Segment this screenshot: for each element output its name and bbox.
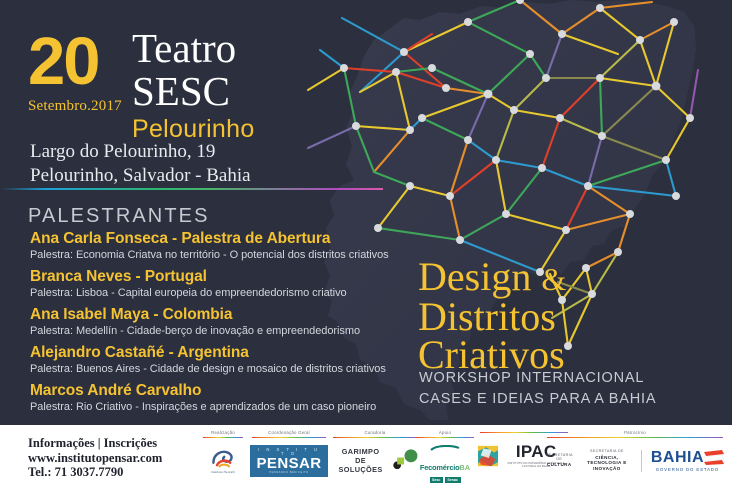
contact-info: Informações | Inscrições www.institutope…	[28, 436, 162, 480]
sesc-tag: Sesc	[430, 477, 443, 483]
speaker-talk: Palestra: Buenos Aires - Cidade de desig…	[30, 362, 420, 377]
title-line-1: Design &	[418, 258, 566, 298]
venue-address: Largo do Pelourinho, 19 Pelourinho, Salv…	[30, 140, 251, 188]
speaker-talk: Palestra: Lisboa - Capital europeia do e…	[30, 286, 420, 301]
title-word-design: Design	[418, 254, 531, 299]
garimpo-de-solucoes-logo: GARIMPO DE SOLUÇÕES	[332, 447, 418, 474]
speaker-item: Branca Neves - Portugal Palestra: Lisboa…	[30, 267, 420, 301]
contact-website[interactable]: www.institutopensar.com	[28, 451, 162, 466]
logo-group-patrocinio: Patrocínio SECRETARIA DE CULTURA SECRETA…	[546, 430, 724, 480]
venue-line-1: Teatro	[132, 28, 255, 69]
cultura-name: CULTURA	[546, 463, 573, 468]
fecomercio-wordmark: FecomércioBA	[420, 457, 470, 475]
speaker-talk: Palestra: Economia Criatva no território…	[30, 248, 420, 263]
pensar-tagline: PENSANDO BEM FEITO	[255, 472, 323, 475]
fecomercio-swoosh-icon	[430, 445, 460, 452]
ipac-mark-icon	[478, 443, 498, 469]
speaker-item: Ana Carla Fonseca - Palestra de Abertura…	[30, 229, 420, 263]
bahia-governo-text: GOVERNO DO ESTADO	[656, 467, 719, 472]
speaker-name: Branca Neves - Portugal	[30, 267, 420, 286]
speakers-list: Ana Carla Fonseca - Palestra de Abertura…	[30, 229, 420, 419]
logo-group-body: GARIMPO DE SOLUÇÕES	[332, 442, 418, 480]
garimpo-line-2: DE SOLUÇÕES	[332, 456, 389, 474]
subtitle-line-1: WORKSHOP INTERNACIONAL	[419, 368, 656, 389]
logo-group-realizacao: Realização Instituto Henrich	[200, 430, 246, 480]
speakers-heading: PALESTRANTES	[28, 205, 210, 228]
secretaria-ciencia-logo: SECRETARIA DE CIÊNCIA, TECNOLOGIA E INOV…	[582, 450, 633, 471]
venue-line-3: Pelourinho	[132, 117, 255, 142]
speaker-name: Ana Carla Fonseca - Palestra de Abertura	[30, 229, 420, 248]
instituto-pensar-logo: I N S T I T U T O PENSAR PENSANDO BEM FE…	[250, 445, 328, 477]
henrich-caption: Instituto Henrich	[211, 470, 235, 474]
poster-footer: Informações | Inscrições www.institutope…	[0, 425, 732, 488]
rainbow-rule	[416, 437, 474, 438]
logo-group-curadoria: Curadoria GARIMPO DE SOLUÇÕES	[332, 430, 418, 480]
logo-group-label: Patrocínio	[546, 430, 724, 435]
poster-subtitle: WORKSHOP INTERNACIONAL CASES E IDEIAS PA…	[419, 368, 656, 410]
speaker-talk: Palestra: Rio Criativo - Inspirações e a…	[30, 400, 420, 415]
pensar-wordmark: PENSAR	[255, 456, 323, 471]
rainbow-rule	[333, 437, 417, 438]
ciencia-top-text: SECRETARIA DE	[582, 450, 633, 454]
ciencia-name: CIÊNCIA, TECNOLOGIA E INOVAÇÃO	[582, 455, 633, 471]
title-line-2: Distritos	[418, 298, 566, 336]
rainbow-rule	[252, 437, 326, 438]
speaker-item: Marcos André Carvalho Palestra: Rio Cria…	[30, 381, 420, 415]
logo-group-label: Realização	[200, 430, 246, 435]
logo-group-label: Curadoria	[332, 430, 418, 435]
subtitle-line-2: CASES E IDEIAS PARA A BAHIA	[419, 389, 656, 410]
bahia-governo-logo: BAHIA GOVERNO DO ESTADO	[651, 450, 724, 472]
logo-group-coordenacao: Coordenação Geral I N S T I T U T O PENS…	[250, 430, 328, 480]
speaker-item: Ana Isabel Maya - Colombia Palestra: Med…	[30, 305, 420, 339]
fecomercio-brands: Sesc Senac	[420, 477, 470, 483]
logo-group-label: Apoio	[414, 430, 476, 435]
contact-line-1: Informações | Inscrições	[28, 436, 162, 451]
rainbow-rule	[203, 437, 243, 438]
title-ampersand: &	[541, 261, 566, 297]
logo-group-apoio: Apoio FecomércioBA Sesc Senac	[414, 430, 476, 480]
speaker-name: Alejandro Castañé - Argentina	[30, 343, 420, 362]
poster-main-title: Design & Distritos Criativos	[418, 258, 566, 374]
speaker-name: Marcos André Carvalho	[30, 381, 420, 400]
logo-group-body: I N S T I T U T O PENSAR PENSANDO BEM FE…	[250, 442, 328, 480]
event-poster: 20 Setembro.2017 Teatro SESC Pelourinho …	[0, 0, 732, 488]
logo-group-body: FecomércioBA Sesc Senac	[414, 442, 476, 480]
bahia-name: BAHIA	[651, 450, 704, 466]
speaker-name: Ana Isabel Maya - Colombia	[30, 305, 420, 324]
bahia-flag-icon	[704, 450, 724, 465]
fecomercio-ba: BA	[459, 463, 470, 472]
speaker-item: Alejandro Castañé - Argentina Palestra: …	[30, 343, 420, 377]
bahia-wordmark-row: BAHIA	[651, 450, 724, 466]
rainbow-rule	[547, 437, 723, 438]
logo-group-body: Instituto Henrich	[200, 442, 246, 480]
henrich-mark-icon	[211, 447, 235, 469]
senac-tag: Senac	[445, 477, 461, 483]
venue-name: Teatro SESC Pelourinho	[132, 28, 255, 142]
secretaria-cultura-logo: SECRETARIA DE CULTURA	[546, 454, 573, 467]
fecomercio-ba-logo: FecomércioBA Sesc Senac	[420, 439, 470, 483]
instituto-henrich-logo: Instituto Henrich	[211, 447, 235, 474]
logo-group-body: SECRETARIA DE CULTURA SECRETARIA DE CIÊN…	[546, 442, 724, 480]
speaker-talk: Palestra: Medellín - Cidade-berço de ino…	[30, 324, 420, 339]
address-line-2: Pelourinho, Salvador - Bahia	[30, 164, 251, 188]
logo-group-label: Coordenação Geral	[250, 430, 328, 435]
logo-divider	[641, 450, 642, 472]
garimpo-wordmark: GARIMPO DE SOLUÇÕES	[332, 447, 389, 474]
cultura-top-text: SECRETARIA DE	[546, 454, 573, 461]
address-line-1: Largo do Pelourinho, 19	[30, 140, 251, 164]
venue-line-2: SESC	[132, 71, 255, 112]
fecomercio-name: Fecomércio	[420, 463, 460, 472]
garimpo-line-1: GARIMPO	[332, 447, 389, 456]
gradient-hairline	[0, 188, 383, 190]
contact-phone: Tel.: 71 3037.7790	[28, 465, 162, 480]
